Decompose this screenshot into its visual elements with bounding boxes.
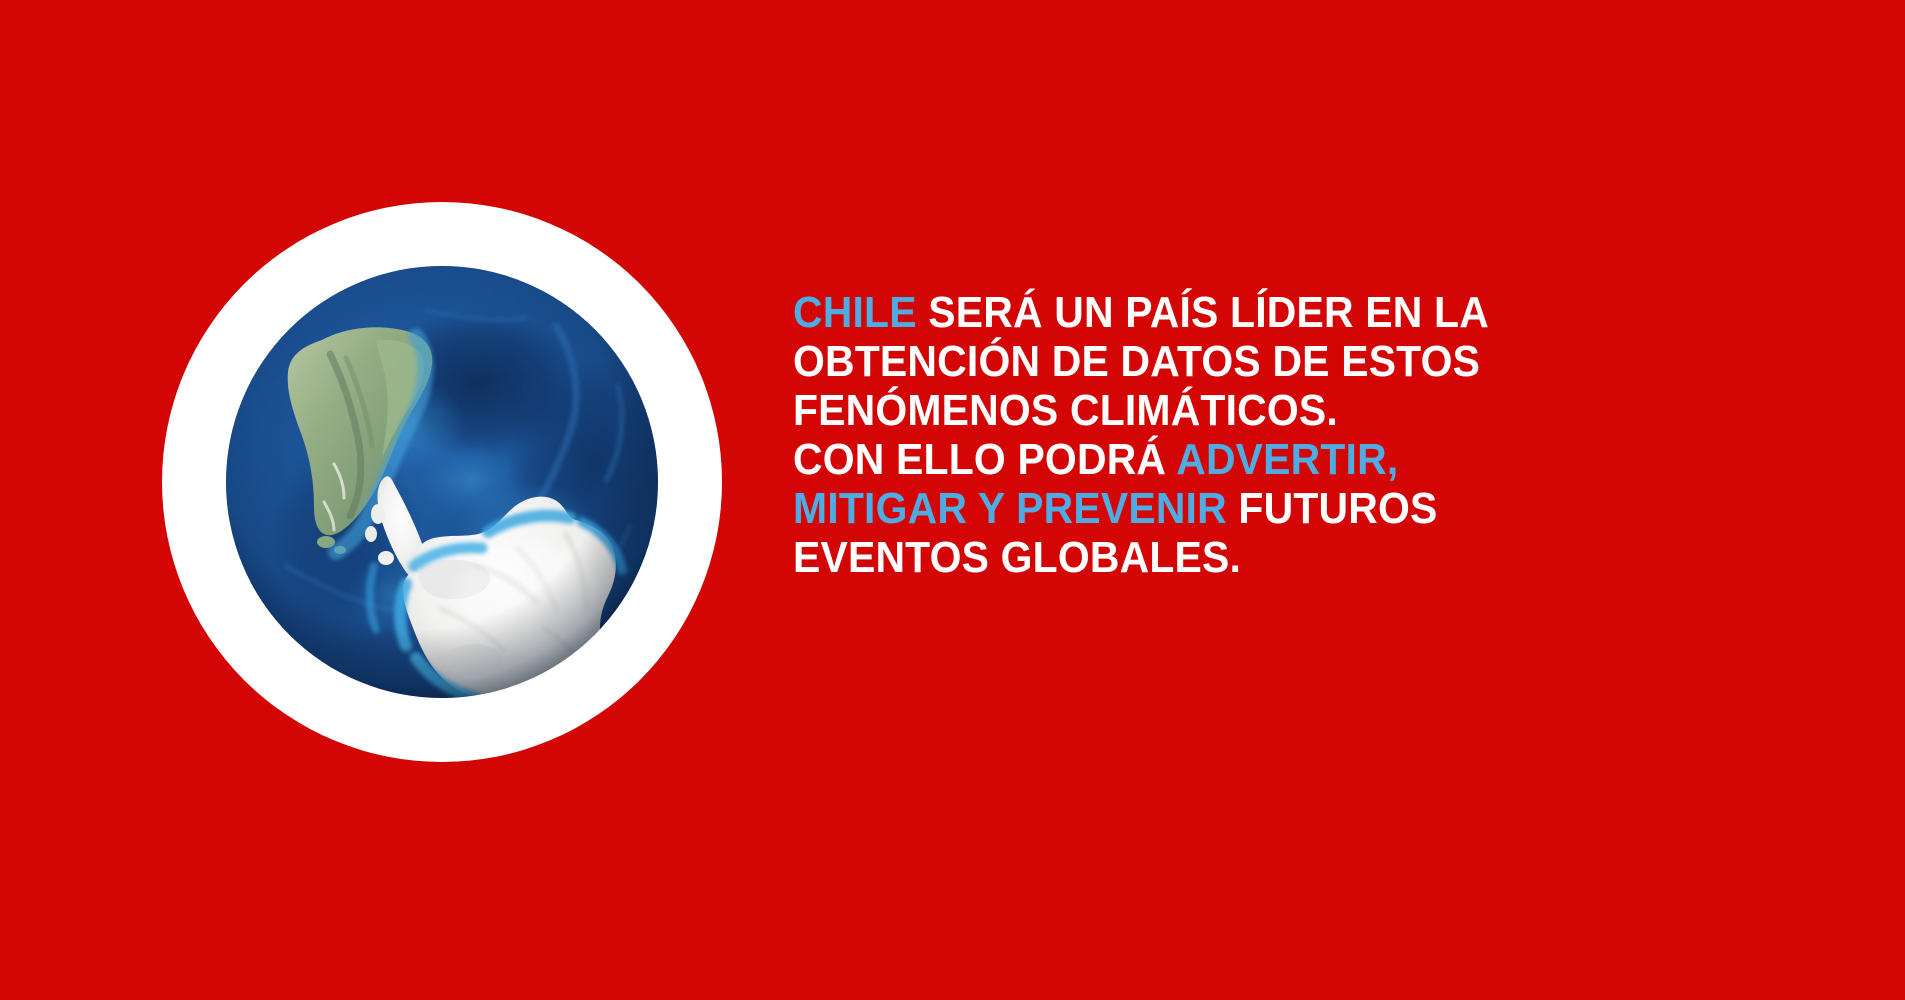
headline-text: CON ELLO PODRÁ (793, 435, 1176, 484)
globe-badge (162, 202, 722, 762)
globe-sphere (226, 266, 658, 698)
headline-text: FENÓMENOS CLIMÁTICOS. (793, 386, 1338, 435)
headline-accent-mitigar-prevenir: MITIGAR Y PREVENIR (793, 484, 1227, 533)
headline-block: CHILE SERÁ UN PAÍS LÍDER EN LA OBTENCIÓN… (793, 288, 1673, 582)
headline-line-1: CHILE SERÁ UN PAÍS LÍDER EN LA (793, 288, 1611, 337)
headline-line-4: CON ELLO PODRÁ ADVERTIR, (793, 435, 1611, 484)
headline-accent-chile: CHILE (793, 288, 917, 337)
headline-text: FUTUROS (1227, 484, 1438, 533)
headline-line-5: MITIGAR Y PREVENIR FUTUROS (793, 484, 1611, 533)
headline-text: EVENTOS GLOBALES. (793, 533, 1241, 582)
headline-text: SERÁ UN PAÍS LÍDER EN LA (917, 288, 1489, 337)
earth-south-polar-icon (226, 266, 658, 698)
headline-accent-advertir: ADVERTIR, (1176, 435, 1398, 484)
headline-line-6: EVENTOS GLOBALES. (793, 533, 1611, 582)
slide-canvas: CHILE SERÁ UN PAÍS LÍDER EN LA OBTENCIÓN… (0, 0, 1905, 1000)
headline-line-3: FENÓMENOS CLIMÁTICOS. (793, 386, 1611, 435)
headline-text: OBTENCIÓN DE DATOS DE ESTOS (793, 337, 1480, 386)
headline-line-2: OBTENCIÓN DE DATOS DE ESTOS (793, 337, 1611, 386)
